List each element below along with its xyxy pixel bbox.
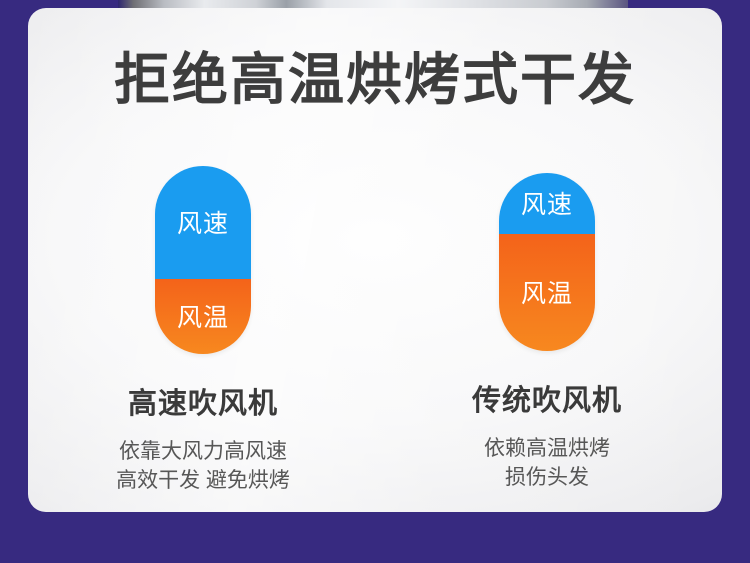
column-title-traditional: 传统吹风机 [472, 377, 622, 419]
column-high-speed-dryer: 风速 风温 高速吹风机 依靠大风力高风速 高效干发 避免烘烤 [53, 138, 353, 496]
pill-segment-wind-temperature: 风温 [499, 234, 595, 351]
column-description-high-speed: 依靠大风力高风速 高效干发 避免烘烤 [116, 438, 290, 496]
pill-chart-traditional: 风速 风温 [499, 173, 595, 351]
pill-segment-wind-speed: 风速 [499, 173, 595, 234]
description-line-2: 高效干发 避免烘烤 [116, 467, 290, 496]
comparison-columns: 风速 风温 高速吹风机 依靠大风力高风速 高效干发 避免烘烤 风速 风温 传统吹… [28, 138, 722, 496]
comparison-card: 拒绝高温烘烤式干发 风速 风温 高速吹风机 依靠大风力高风速 高效干发 避免烘烤… [28, 8, 722, 512]
column-traditional-dryer: 风速 风温 传统吹风机 依赖高温烘烤 损伤头发 [397, 138, 697, 496]
product-detail-page: 拒绝高温烘烤式干发 风速 风温 高速吹风机 依靠大风力高风速 高效干发 避免烘烤… [0, 0, 750, 563]
description-line-2: 损伤头发 [484, 464, 610, 493]
column-title-high-speed: 高速吹风机 [128, 380, 278, 422]
column-description-traditional: 依赖高温烘烤 损伤头发 [484, 435, 610, 493]
description-line-1: 依靠大风力高风速 [116, 438, 290, 467]
pill-chart-high-speed: 风速 风温 [155, 166, 251, 354]
page-title: 拒绝高温烘烤式干发 [28, 52, 722, 108]
pill-segment-wind-speed: 风速 [155, 166, 251, 279]
pill-segment-wind-temperature: 风温 [155, 279, 251, 354]
description-line-1: 依赖高温烘烤 [484, 435, 610, 464]
